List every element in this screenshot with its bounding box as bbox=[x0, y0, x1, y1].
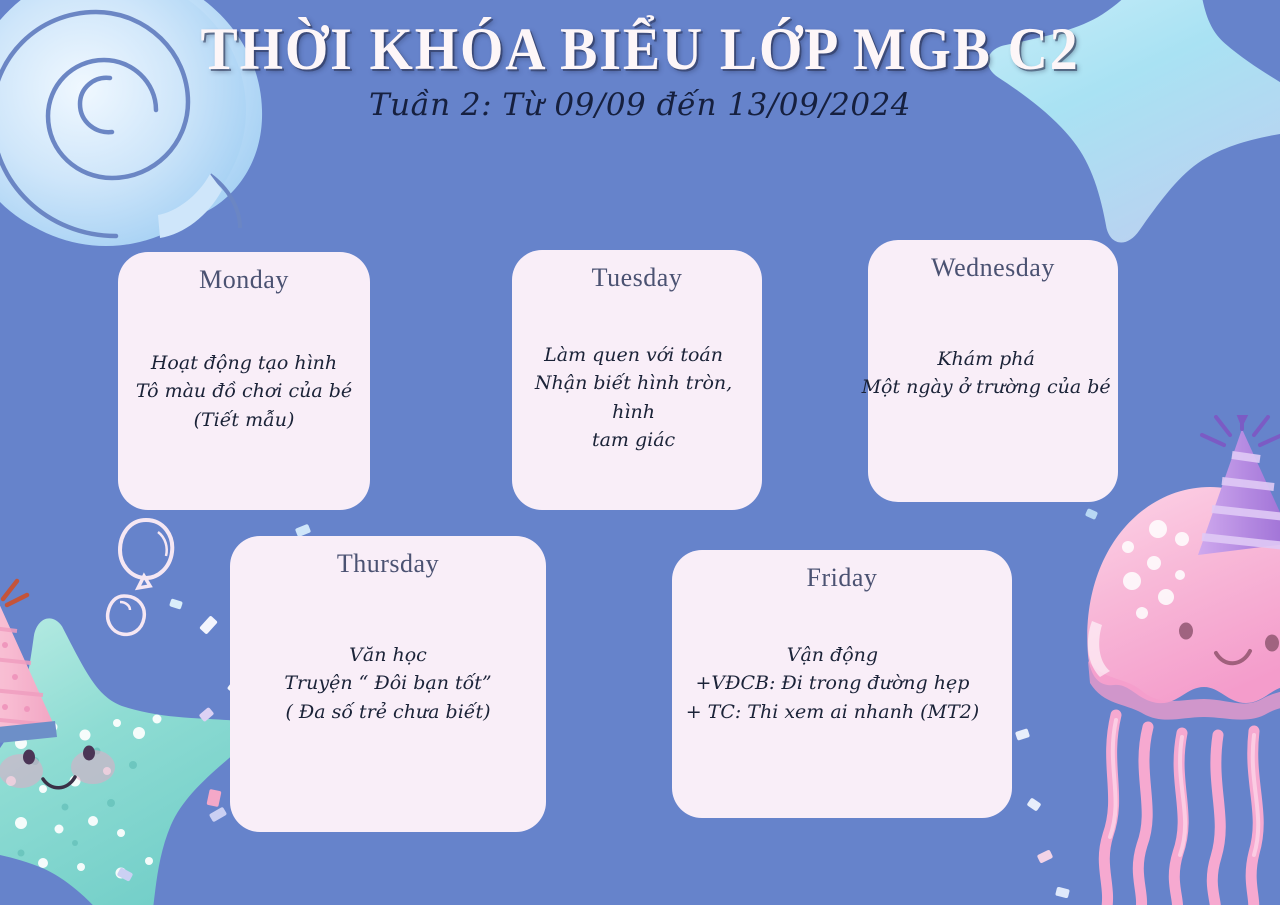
confetti-piece bbox=[199, 707, 215, 722]
confetti-piece bbox=[117, 867, 134, 882]
bubble-icon bbox=[100, 590, 156, 646]
day-card-title: Wednesday bbox=[931, 254, 1055, 283]
balloon-icon bbox=[104, 510, 184, 600]
confetti-piece bbox=[1015, 728, 1030, 741]
confetti-piece bbox=[209, 807, 227, 823]
poster-header: THỜI KHÓA BIỂU LỚP MGB C2 Tuần 2: Từ 09/… bbox=[0, 0, 1280, 123]
page-subtitle: Tuần 2: Từ 09/09 đến 13/09/2024 bbox=[0, 87, 1280, 123]
confetti-piece bbox=[1037, 849, 1054, 863]
day-card-title: Monday bbox=[199, 266, 289, 295]
confetti-piece bbox=[206, 789, 221, 807]
day-card-activity: Văn học Truyện “ Đôi bạn tốt” ( Đa số tr… bbox=[240, 641, 536, 727]
day-card-title: Tuesday bbox=[592, 264, 683, 293]
schedule-poster: THỜI KHÓA BIỂU LỚP MGB C2 Tuần 2: Từ 09/… bbox=[0, 0, 1280, 905]
day-card-friday[interactable]: Friday Vận động +VĐCB: Đi trong đường hẹ… bbox=[672, 550, 1012, 818]
day-card-tuesday[interactable]: Tuesday Làm quen với toán Nhận biết hình… bbox=[512, 250, 762, 510]
day-card-title: Thursday bbox=[337, 550, 439, 579]
page-title: THỜI KHÓA BIỂU LỚP MGB C2 bbox=[45, 0, 1235, 81]
confetti-piece bbox=[169, 598, 183, 609]
day-card-activity: Làm quen với toán Nhận biết hình tròn, h… bbox=[512, 341, 756, 455]
day-card-wednesday[interactable]: Wednesday Khám phá Một ngày ở trường của… bbox=[868, 240, 1118, 502]
day-card-activity: Khám phá Một ngày ở trường của bé bbox=[857, 345, 1115, 402]
day-card-monday[interactable]: Monday Hoạt động tạo hình Tô màu đồ chơi… bbox=[118, 252, 370, 510]
confetti-piece bbox=[199, 615, 218, 634]
confetti-piece bbox=[1027, 797, 1042, 811]
day-card-title: Friday bbox=[807, 564, 878, 593]
party-starfish-icon bbox=[0, 575, 255, 905]
confetti-piece bbox=[1085, 508, 1098, 520]
confetti-piece bbox=[1055, 887, 1070, 899]
day-card-activity: Vận động +VĐCB: Đi trong đường hẹp + TC:… bbox=[653, 641, 1011, 727]
day-card-activity: Hoạt động tạo hình Tô màu đồ chơi của bé… bbox=[128, 349, 360, 435]
day-card-thursday[interactable]: Thursday Văn học Truyện “ Đôi bạn tốt” (… bbox=[230, 536, 546, 832]
